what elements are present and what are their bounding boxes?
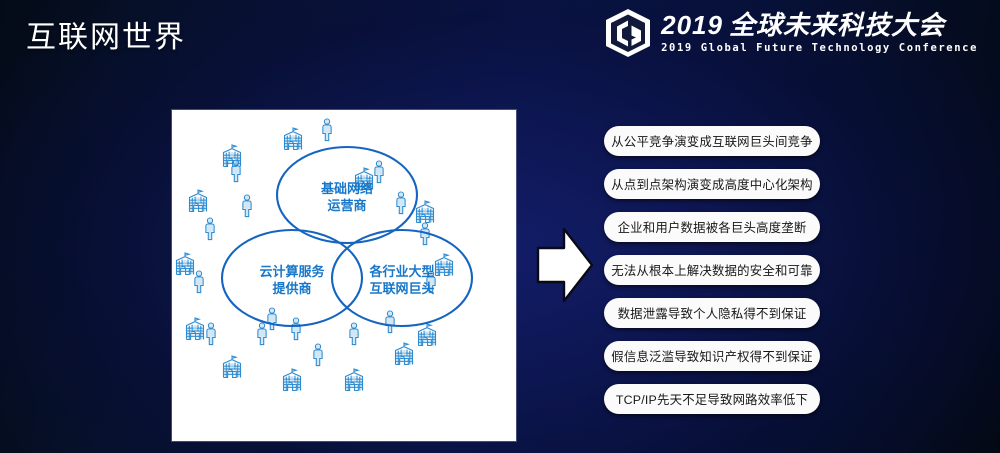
person-icon	[232, 160, 240, 182]
person-icon	[243, 195, 251, 217]
person-icon	[314, 344, 322, 366]
venn-label-cloud-service-providers: 云计算服务提供商	[259, 264, 325, 296]
conference-title-cn: 2019全球未来科技大会	[661, 12, 978, 39]
conference-logo: 2019全球未来科技大会 2019 Global Future Technolo…	[604, 8, 978, 58]
conference-title-cn-text: 全球未来科技大会	[729, 10, 945, 40]
building-icon	[396, 343, 413, 365]
building-icon	[346, 369, 363, 391]
building-icon	[436, 254, 453, 276]
consequence-pill[interactable]: 从点到点架构演变成高度中心化架构	[604, 169, 820, 199]
venn-diagram-svg: 基础网络运营商云计算服务提供商各行业大型互联网巨头	[172, 110, 516, 441]
building-icon	[284, 369, 301, 391]
person-icon	[350, 323, 358, 345]
building-icon	[419, 324, 436, 346]
person-icon	[206, 218, 214, 240]
venn-label-basic-network-operators: 基础网络运营商	[320, 181, 373, 213]
consequence-pill[interactable]: 从公平竞争演变成互联网巨头间竞争	[604, 126, 820, 156]
venn-label-industry-internet-giants: 各行业大型互联网巨头	[368, 264, 434, 296]
consequence-pill[interactable]: 企业和用户数据被各巨头高度垄断	[604, 212, 820, 242]
person-icon	[258, 323, 266, 345]
building-icon	[417, 201, 434, 223]
person-icon	[292, 318, 300, 340]
consequences-list: 从公平竞争演变成互联网巨头间竞争从点到点架构演变成高度中心化架构企业和用户数据被…	[604, 126, 820, 414]
consequence-pill[interactable]: 无法从根本上解决数据的安全和可靠	[604, 255, 820, 285]
conference-logo-text: 2019全球未来科技大会 2019 Global Future Technolo…	[661, 12, 978, 54]
consequence-pill[interactable]: TCP/IP先天不足导致网路效率低下	[604, 384, 820, 414]
conference-year: 2019	[661, 10, 723, 40]
person-icon	[207, 323, 215, 345]
flow-arrow-right-icon	[534, 222, 596, 308]
page-title: 互联网世界	[26, 12, 186, 56]
venn-circle-group: 基础网络运营商云计算服务提供商各行业大型互联网巨头	[222, 147, 472, 326]
person-icon	[375, 161, 383, 183]
consequence-pill[interactable]: 假信息泛滥导致知识产权得不到保证	[604, 341, 820, 371]
internet-world-venn-panel: 基础网络运营商云计算服务提供商各行业大型互联网巨头	[172, 110, 516, 441]
building-icon	[190, 190, 207, 212]
person-icon	[397, 192, 405, 214]
consequence-pill[interactable]: 数据泄露导致个人隐私得不到保证	[604, 298, 820, 328]
building-icon	[224, 356, 241, 378]
slide-root: 互联网世界 2019全球未来科技大会 2019 Global Future Te…	[0, 0, 1000, 453]
person-icon	[386, 311, 394, 333]
person-icon	[323, 119, 331, 141]
building-icon	[177, 253, 194, 275]
person-icon	[268, 308, 276, 330]
building-icon	[285, 128, 302, 150]
person-icon	[195, 271, 203, 293]
conference-logo-mark-icon	[604, 8, 652, 58]
building-icon	[187, 318, 204, 340]
conference-subtitle-en: 2019 Global Future Technology Conference	[661, 42, 978, 54]
